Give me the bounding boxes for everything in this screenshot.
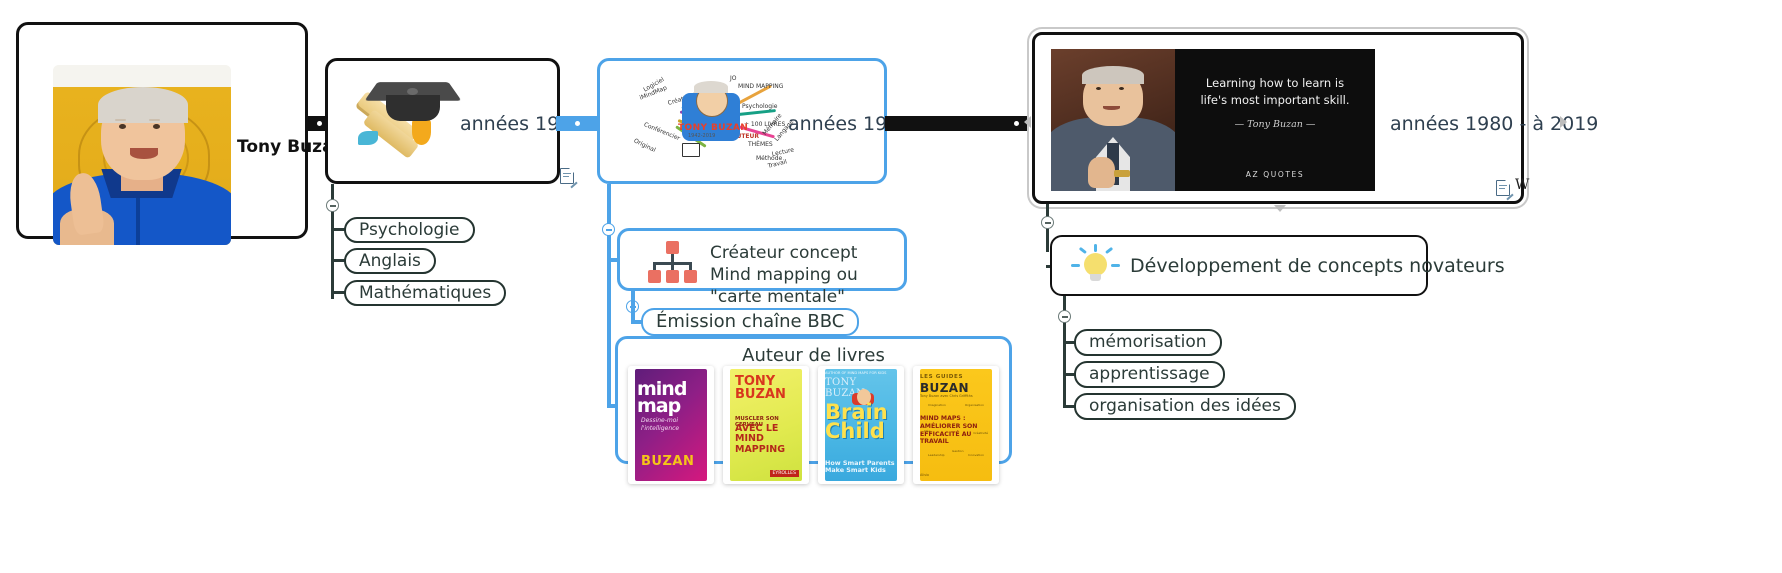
leaf-mathematiques[interactable]: Mathématiques xyxy=(344,280,506,306)
book4-author: BUZAN xyxy=(920,381,992,395)
book4-publisher: Alisio xyxy=(920,473,992,477)
node-annees-1980-2019[interactable]: Learning how to learn is life's most imp… xyxy=(1032,32,1524,204)
graduation-cap-icon xyxy=(348,69,468,169)
thumb-center-name: TONY BUZAN xyxy=(678,123,748,133)
link-dot-1 xyxy=(317,121,322,126)
root-portrait-image xyxy=(53,65,231,245)
book1-author: BUZAN xyxy=(641,454,694,469)
leaf-psychologie[interactable]: Psychologie xyxy=(344,217,475,243)
collapse-toggle-1980[interactable] xyxy=(1041,216,1054,229)
node-annees-1970[interactable]: Logiciel iMindMap Créativité Conférencie… xyxy=(597,58,887,184)
book-cover-mind-map[interactable]: mind map Dessine-moi l'intelligence BUZA… xyxy=(628,366,714,484)
label-createur-concept: Créateur concept Mind mapping ou "carte … xyxy=(710,243,900,308)
collapse-toggle-1960[interactable] xyxy=(326,199,339,212)
book3-title: Brain Child xyxy=(825,403,897,442)
book-cover-brain-child[interactable]: AUTHOR OF MIND MAPS FOR KIDS TONY BUZAN … xyxy=(818,366,904,484)
leaf-memorisation[interactable]: mémorisation xyxy=(1074,329,1222,356)
collapse-toggle-1970[interactable] xyxy=(602,223,615,236)
node-developpement-concepts[interactable]: Développement de concepts novateurs xyxy=(1050,235,1428,296)
leaf-apprentissage[interactable]: apprentissage xyxy=(1074,361,1225,388)
quote-attribution: — Tony Buzan — xyxy=(1175,119,1375,130)
wikipedia-icon[interactable]: W xyxy=(1515,177,1529,193)
book4-series: LES GUIDES xyxy=(920,374,992,380)
trunk-bbc xyxy=(631,291,635,323)
org-chart-icon xyxy=(645,241,701,285)
mindmap-canvas[interactable]: Tony Buzan années 1960 Psychologie Angla… xyxy=(0,0,1782,573)
quote-source: AZ QUOTES xyxy=(1175,170,1375,179)
mindmap-thumbnail-image: Logiciel iMindMap Créativité Conférencie… xyxy=(626,67,798,177)
book1-subtitle: Dessine-moi l'intelligence xyxy=(641,417,707,433)
handle-right-arrow[interactable] xyxy=(1560,116,1567,128)
book-cover-les-guides-buzan[interactable]: LES GUIDES BUZAN Tony Buzan avec Chris G… xyxy=(913,366,999,484)
label-developpement-concepts: Développement de concepts novateurs xyxy=(1130,255,1505,277)
lightbulb-icon xyxy=(1067,244,1123,288)
node-createur-concept[interactable]: Créateur concept Mind mapping ou "carte … xyxy=(617,228,907,291)
book2-title: AVEC LE MIND MAPPING xyxy=(735,424,802,455)
thumb-center-years: 1942-2019 xyxy=(688,133,715,139)
trunk-1970 xyxy=(607,184,611,408)
label-annees-1980: années 1980 - à 2019 xyxy=(1390,113,1598,135)
leaf-organisation-idees[interactable]: organisation des idées xyxy=(1074,393,1296,420)
book3-sub: How Smart Parents Make Smart Kids xyxy=(825,460,897,475)
link-dot-2 xyxy=(575,121,580,126)
handle-left-arrow[interactable] xyxy=(1024,116,1031,128)
root-node-tony-buzan[interactable]: Tony Buzan xyxy=(16,22,308,239)
link-1970-1980 xyxy=(885,116,1030,131)
book-cover-muscler-son-cerveau[interactable]: TONY BUZAN MUSCLER SON CERVEAU AVEC LE M… xyxy=(723,366,809,484)
link-dot-3 xyxy=(1014,121,1019,126)
quote-portrait xyxy=(1051,49,1175,191)
book4-title: MIND MAPS : AMÉLIORER SON EFFICACITÉ AU … xyxy=(920,415,992,446)
book4-byline: Tony Buzan avec Chris Griffiths xyxy=(920,394,992,398)
book3-top: AUTHOR OF MIND MAPS FOR KIDS xyxy=(825,371,897,375)
leaf-anglais[interactable]: Anglais xyxy=(344,248,436,274)
book-covers-row: mind map Dessine-moi l'intelligence BUZA… xyxy=(628,358,1008,470)
leaf-emission-bbc[interactable]: Émission chaîne BBC xyxy=(641,308,859,336)
book2-author: TONY BUZAN xyxy=(735,375,802,401)
quote-image: Learning how to learn is life's most imp… xyxy=(1051,49,1375,191)
node-annees-1960[interactable]: années 1960 xyxy=(325,58,560,184)
handle-bottom-arrow[interactable] xyxy=(1274,205,1286,212)
quote-text: Learning how to learn is life's most imp… xyxy=(1175,75,1375,108)
book2-badge: EYROLLES xyxy=(770,470,799,477)
note-icon-1960[interactable] xyxy=(560,168,574,184)
note-icon-1980[interactable] xyxy=(1496,180,1510,196)
collapse-toggle-concepts[interactable] xyxy=(1058,310,1071,323)
book1-title: mind map xyxy=(637,381,707,414)
